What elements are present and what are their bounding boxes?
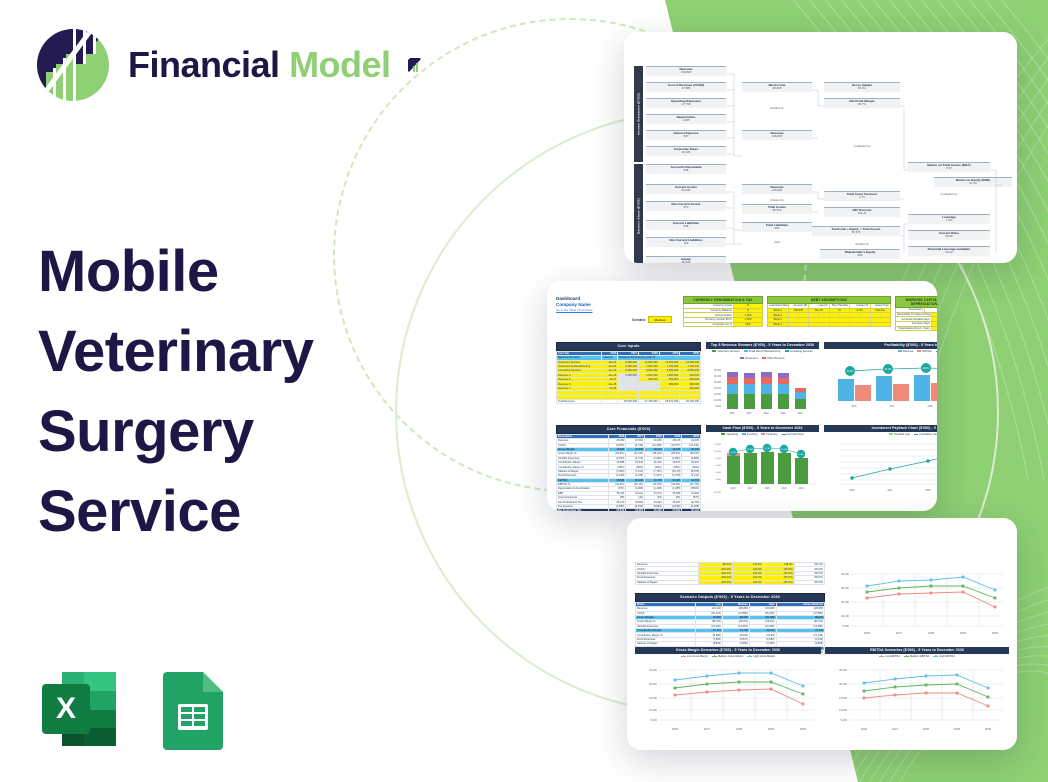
title-line-3: Surgery: [38, 392, 438, 472]
svg-text:2027: 2027: [746, 413, 752, 415]
node-net-profit-margin: Net Profit Margin35.7%: [824, 98, 900, 108]
svg-text:15,000: 15,000: [839, 696, 847, 700]
node-net-income: Net Income48,828: [742, 82, 812, 92]
core-inputs-table: Core Inputs Cost Tier 2026 2027 2028 202…: [556, 342, 701, 404]
page-title: Mobile Veterinary Surgery Service: [38, 232, 438, 552]
svg-text:5,000: 5,000: [841, 718, 848, 722]
table-row: Net Profit After Tax25,87224,28725,34825…: [557, 509, 701, 511]
svg-text:8,037: 8,037: [798, 454, 804, 456]
node-revenue-turnover: Revenue136,800: [742, 184, 812, 194]
node-operating-expenses: Operating Expenses17,758: [646, 98, 726, 108]
node-total-liabilities: Total Liabilities956: [742, 222, 812, 232]
brand-word-financial: Financial: [128, 44, 280, 85]
revenue-scenarios-plot: 45,00040,000 35,00030,0005,000 2026 2027: [831, 562, 1009, 647]
svg-text:10,000: 10,000: [649, 708, 657, 712]
core-financials-table: Core Financials ($'000) Description 2026…: [556, 425, 701, 511]
svg-text:2029: 2029: [781, 488, 787, 490]
title-line-1: Mobile: [38, 232, 438, 312]
node-total-asset-turnover: Total Asset Turnover2.70: [824, 191, 900, 201]
scenario-analysis-card[interactable]: Revenue(85.0%)100.0%115.0%100.0% COGS(10…: [627, 518, 1017, 750]
svg-text:8,908: 8,908: [730, 452, 736, 454]
chart-top5-revenue-streams: Top 5 Revenue Streams ($'000) - 5 Years …: [706, 342, 819, 420]
operator-divided-by-3: divided by: [824, 242, 900, 246]
svg-text:(2,000): (2,000): [714, 492, 721, 494]
svg-text:15,000: 15,000: [649, 696, 657, 700]
svg-text:2029: 2029: [780, 413, 786, 415]
node-interest-expense: Interest Expense537: [646, 130, 726, 140]
svg-text:2026: 2026: [730, 488, 736, 490]
svg-text:41.1%: 41.1%: [885, 368, 893, 371]
scenario-inputs-grid: Revenue(85.0%)100.0%115.0%100.0% COGS(10…: [635, 562, 825, 585]
chart-revenue-scenarios: 45,00040,000 35,00030,0005,000 2026 2027: [831, 562, 1009, 647]
microsoft-excel-icon[interactable]: X: [36, 666, 122, 752]
title-line-4: Service: [38, 472, 438, 552]
cash-flow-plot: 2,0004,0006,000 8,00010,00012,000 (2,000…: [706, 436, 819, 496]
svg-text:2028: 2028: [923, 727, 930, 731]
node-current-ratio: Current Ratio58.98: [908, 230, 990, 240]
svg-text:25,000: 25,000: [649, 668, 657, 672]
gross-margin-plot: 25,000 20,000 15,000 10,000 5,000: [635, 658, 821, 740]
table-total-row: Total Revenue 28,600,000 27,400,000 28,4…: [557, 399, 701, 403]
dashboard-heading: Dashboard Company Name Go to the Table o…: [556, 296, 592, 312]
svg-text:40,000: 40,000: [841, 586, 849, 590]
node-accounts-receivable: Accounts Receivable948: [646, 164, 726, 174]
mini-bar-chart-icon: [408, 58, 422, 74]
chart-legend: Veterinary Services Small Ranch Manufact…: [706, 349, 819, 360]
svg-text:2026: 2026: [849, 490, 855, 492]
svg-text:10,000: 10,000: [714, 451, 721, 453]
svg-text:2028: 2028: [764, 488, 770, 490]
table-row: Salaries & Wages(105.0%)100.0%(95.0%)100…: [636, 580, 825, 584]
dupont-diagram: Income Statement ($'000) Balance Sheet (…: [634, 44, 1009, 253]
core-financials-title: Core Financials ($'000): [556, 425, 701, 434]
node-revenue: Revenue136,800: [646, 66, 726, 76]
stacked-bar-plot: 5,00010,00015,000 20,00025,00030,00035,0…: [706, 360, 819, 418]
svg-text:2027: 2027: [887, 490, 893, 492]
svg-text:15,000: 15,000: [714, 394, 722, 396]
svg-text:2030: 2030: [992, 631, 999, 635]
svg-text:10,360: 10,360: [747, 449, 754, 451]
svg-text:2028: 2028: [928, 631, 935, 635]
svg-text:6,000: 6,000: [716, 465, 722, 467]
node-return-on-equity: Return on Equity (ROE)61.03: [934, 177, 1012, 187]
chart-title: EBITDA Scenarios ($'000) - 5 Years to De…: [825, 647, 1009, 654]
google-sheets-icon[interactable]: [150, 666, 236, 752]
operator-add: Add: [742, 240, 812, 244]
dashboard-content: Dashboard Company Name Go to the Table o…: [554, 294, 930, 503]
node-corporate-taxes: Corporate Taxes20,626: [646, 146, 726, 156]
chart-legend: Operating Investing Financing Net Cash F…: [706, 432, 819, 436]
svg-text:10,068: 10,068: [781, 449, 788, 451]
payback-line-plot: 70,000 60,000 50,000 40,000 30,000 20,00…: [824, 436, 937, 496]
poster-canvas: Financial Model Mobile Veterinary Surger…: [0, 0, 1048, 782]
dupont-analysis-card[interactable]: Income Statement ($'000) Balance Sheet (…: [624, 32, 1017, 263]
scenario-inputs-table: Revenue(85.0%)100.0%115.0%100.0% COGS(10…: [635, 562, 825, 585]
block-currency-denomination: CURRENCY DENOMINATION & TAX Currency Inp…: [683, 296, 763, 327]
svg-text:2029: 2029: [960, 631, 967, 635]
chart-title: Gross Margin Scenarios ($'000) - 5 Years…: [635, 647, 821, 654]
node-shareholders-equity: Shareholder's Equity800: [820, 249, 900, 259]
svg-text:12,000: 12,000: [714, 444, 721, 446]
svg-text:25,000: 25,000: [714, 382, 722, 384]
dupont-sheet: Income Statement ($'000) Balance Sheet (…: [624, 32, 1017, 263]
chart-cash-flow: Cash Flow ($'000) - 5 Years to December …: [706, 425, 819, 505]
node-leverage: Leverage1.9%: [908, 214, 990, 224]
node-non-current-liabilities: Non Current Liabilities109: [646, 237, 726, 247]
block-header: CURRENCY DENOMINATION & TAX: [683, 296, 763, 304]
block-header: DEBT ASSUMPTIONS: [767, 296, 891, 304]
node-ar-turnover: A/R Turnover144.24: [824, 207, 900, 217]
operator-multiplied-by-2: multiplied by: [908, 192, 990, 196]
svg-text:2028: 2028: [763, 413, 769, 415]
svg-text:X: X: [56, 692, 76, 725]
circle-bar-chart-logo-icon: [36, 28, 110, 102]
block-debt-assumptions: DEBT ASSUMPTIONS Loan/Grant NameAmount (…: [767, 296, 891, 327]
svg-text:2028: 2028: [927, 406, 933, 408]
svg-text:2027: 2027: [896, 631, 903, 635]
node-total-liab-equity: Total Liab + Equity = Total Assets50,576: [812, 226, 900, 236]
svg-text:5,000: 5,000: [651, 718, 658, 722]
dashboard-sheet: Dashboard Company Name Go to the Table o…: [547, 281, 937, 511]
svg-text:2028: 2028: [925, 490, 931, 492]
node-current-assets: Current Assets50,006: [646, 184, 726, 194]
chart-title: Profitability ($'000) - 5 Years to Decem…: [824, 342, 937, 349]
brand-word-model: Model: [289, 44, 400, 85]
chart-profitability: Profitability ($'000) - 5 Years to Decem…: [824, 342, 937, 420]
svg-text:10,780: 10,780: [764, 448, 771, 450]
chart-title: Cash Flow ($'000) - 5 Years to December …: [706, 425, 819, 432]
scenario-sheet: Revenue(85.0%)100.0%115.0%100.0% COGS(10…: [627, 518, 1017, 750]
core-inputs-grid: Cost Tier 2026 2027 2028 2029 2030 Reven…: [556, 351, 701, 405]
svg-text:2027: 2027: [892, 727, 899, 731]
node-non-current-assets: Non Current Assets570: [646, 201, 726, 211]
chart-title: Investment Payback Chart ($'000) - 5 Yea…: [824, 425, 937, 432]
brand-logo[interactable]: Financial Model: [36, 28, 400, 102]
svg-text:2026: 2026: [729, 413, 735, 415]
svg-text:44.2%: 44.2%: [847, 370, 855, 373]
svg-text:30,000: 30,000: [841, 614, 849, 618]
svg-text:2026: 2026: [672, 727, 679, 731]
node-current-liabilities: Current Liabilities848: [646, 220, 726, 230]
node-equity: Equity49,629: [646, 256, 726, 263]
node-depreciation: Depreciation1,285: [646, 114, 726, 124]
dashboard-card[interactable]: Dashboard Company Name Go to the Table o…: [547, 281, 937, 511]
core-inputs-title: Core Inputs: [556, 342, 701, 351]
block-working-capital: WORKING CAPITAL & DEPRECIATION Assumptio…: [895, 296, 937, 331]
svg-text:4,000: 4,000: [716, 472, 722, 474]
svg-text:2027: 2027: [889, 406, 895, 408]
svg-text:43.0%: 43.0%: [923, 367, 931, 370]
operator-multiplied-by-1: multiplied by: [824, 144, 900, 148]
svg-text:20,000: 20,000: [839, 682, 847, 686]
node-revenue-denominator: Revenue136,800: [742, 130, 812, 140]
block-header: WORKING CAPITAL & DEPRECIATION: [895, 296, 937, 308]
svg-text:2026: 2026: [864, 631, 871, 635]
node-return-on-total-assets: Return on Total Assets (ROA)0.97: [908, 162, 990, 172]
band-balance-sheet: Balance Sheet ($'000): [634, 164, 643, 263]
core-financials-grid: Description 2026 2027 2028 2029 2030 Rev…: [556, 434, 701, 511]
scenario-value[interactable]: Medium: [648, 316, 672, 323]
svg-text:5,000: 5,000: [843, 624, 850, 628]
node-cogs: Cost of Revenue (COGS)47,880: [646, 82, 726, 92]
operator-divided-by-1: divided by: [742, 106, 812, 110]
scenario-selector[interactable]: Scenario Medium: [632, 316, 672, 323]
scenario-outputs-table: Scenario Outputs ($'000) - 5 Years to De…: [635, 593, 825, 655]
chart-title: Top 5 Revenue Streams ($'000) - 5 Years …: [706, 342, 819, 349]
svg-text:2,000: 2,000: [716, 479, 722, 481]
scenario-content: Revenue(85.0%)100.0%115.0%100.0% COGS(10…: [635, 530, 1009, 742]
svg-text:2027: 2027: [747, 488, 753, 490]
svg-text:35,000: 35,000: [714, 370, 722, 372]
scenario-outputs-title: Scenario Outputs ($'000) - 5 Years to De…: [635, 593, 825, 602]
svg-text:10,000: 10,000: [839, 708, 847, 712]
svg-text:20,000: 20,000: [649, 682, 657, 686]
operator-divided-by-2: divided by: [742, 198, 812, 202]
scenario-label: Scenario: [632, 318, 645, 322]
svg-text:8,000: 8,000: [716, 458, 722, 460]
svg-text:2029: 2029: [768, 727, 775, 731]
file-format-icons: X: [36, 666, 236, 752]
svg-text:2030: 2030: [800, 727, 807, 731]
chart-gross-margin-scenarios: Gross Margin Scenarios ($'000) - 5 Years…: [635, 647, 821, 745]
node-financial-leverage-multiplier: Financial Leverage multiplier63.22: [908, 246, 990, 256]
bar-line-plot: 44.2% 41.1% 43.0% 43.0% 41.7% 2026 2027 …: [824, 353, 937, 411]
svg-text:25,000: 25,000: [839, 668, 847, 672]
svg-text:45,000: 45,000: [841, 572, 849, 576]
svg-text:10,000: 10,000: [714, 400, 722, 402]
svg-text:2030: 2030: [798, 488, 804, 490]
svg-text:5,000: 5,000: [715, 406, 721, 408]
svg-text:2027: 2027: [704, 727, 711, 731]
node-gross-margin: Gross margin65.0%: [824, 82, 900, 92]
svg-text:20,000: 20,000: [714, 388, 722, 390]
chart-investment-payback: Investment Payback Chart ($'000) - 5 Yea…: [824, 425, 937, 505]
svg-text:30,000: 30,000: [714, 376, 722, 378]
svg-text:2029: 2029: [954, 727, 961, 731]
svg-text:2030: 2030: [985, 727, 992, 731]
chart-ebitda-scenarios: EBITDA Scenarios ($'000) - 5 Years to De…: [825, 647, 1009, 745]
band-income-statement: Income Statement ($'000): [634, 66, 643, 162]
table-of-contents-link[interactable]: Go to the Table of Contents: [556, 308, 592, 312]
svg-text:2026: 2026: [861, 727, 868, 731]
node-total-assets: Total Assets50,576: [742, 204, 812, 214]
ebitda-plot: 25,000 20,000 15,000 10,000 5,000: [825, 658, 1009, 740]
title-line-2: Veterinary: [38, 312, 438, 392]
brand-wordmark: Financial Model: [128, 47, 400, 83]
svg-text:35,000: 35,000: [841, 600, 849, 604]
svg-text:2030: 2030: [797, 413, 803, 415]
svg-text:2026: 2026: [851, 406, 857, 408]
svg-text:2028: 2028: [736, 727, 743, 731]
